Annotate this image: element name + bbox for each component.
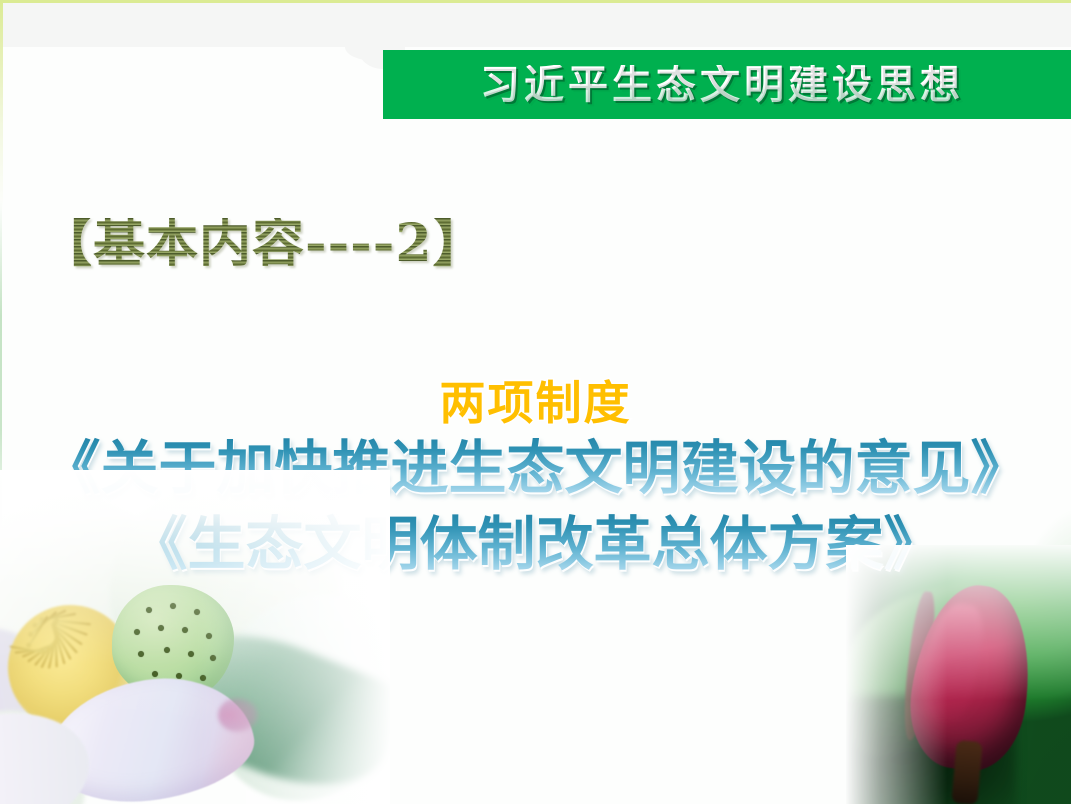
rose-stem <box>951 740 982 804</box>
top-grey-band <box>3 3 1071 47</box>
slide-body: 两项制度 《关于加快推进生态文明建设的意见》 《生态文明体制改革总体方案》 <box>0 378 1071 583</box>
header-banner-title: 习近平生态文明建设思想 <box>480 65 974 105</box>
header-banner: 习近平生态文明建设思想 <box>383 50 1071 119</box>
frame-top-edge <box>0 0 1071 3</box>
document-title-2: 《生态文明体制改革总体方案》 <box>0 506 1071 583</box>
rose-bud-photo <box>846 545 1071 804</box>
presentation-slide: 习近平生态文明建设思想 【基本内容----2】 两项制度 《关于加快推进生态文明… <box>0 0 1071 804</box>
document-title-1: 《关于加快推进生态文明建设的意见》 <box>0 430 1071 507</box>
body-heading: 两项制度 <box>0 378 1071 430</box>
section-title: 【基本内容----2】 <box>40 218 486 270</box>
lotus-petal-front-tip <box>218 698 258 732</box>
